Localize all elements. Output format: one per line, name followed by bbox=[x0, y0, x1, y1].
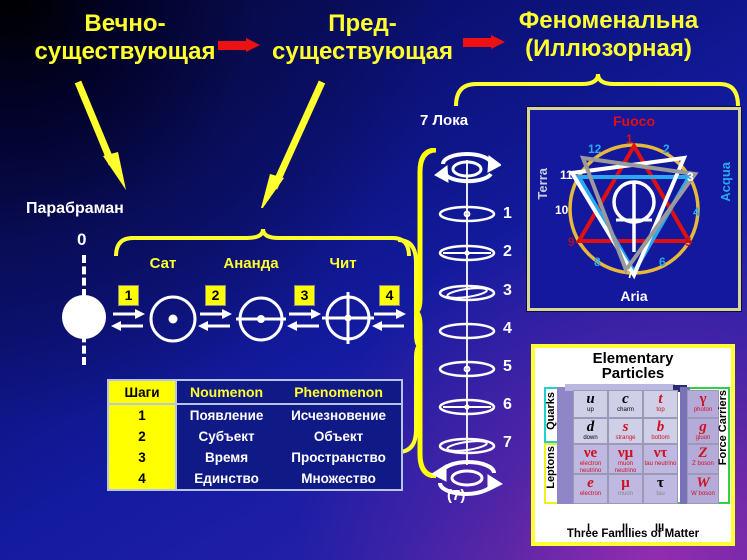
particle-name-photon: photon bbox=[688, 407, 718, 414]
group-label-force-carriers: Force Carriers bbox=[717, 390, 729, 465]
glyph-label-chit: Чит bbox=[315, 255, 371, 272]
bidirectional-arrows-4 bbox=[372, 308, 406, 332]
particle-cell-muon: μ muon bbox=[608, 474, 643, 504]
clock-label-fuoco: Fuoco bbox=[530, 113, 738, 129]
cell-phenomenon-4: Множество bbox=[276, 468, 402, 490]
step-box-2[interactable]: 2 bbox=[205, 285, 226, 306]
rotation-arrows-icon-top bbox=[433, 148, 501, 190]
step-box-4[interactable]: 4 bbox=[379, 285, 400, 306]
families-caption: Three Families of Matter bbox=[535, 528, 731, 540]
table-header-steps: Шаги bbox=[108, 380, 176, 404]
particle-cell-down: d down bbox=[573, 418, 608, 444]
particle-name-tau: tau bbox=[644, 491, 677, 498]
group-label-quarks: Quarks bbox=[545, 392, 557, 430]
cell-noumenon-2: Субъект bbox=[176, 426, 276, 447]
particle-symbol-photon: γ bbox=[688, 392, 718, 407]
particle-name-charm: charm bbox=[609, 407, 642, 414]
particle-name-muon: muon bbox=[609, 491, 642, 498]
particle-cell-bottom: b bottom bbox=[643, 418, 678, 444]
red-right-arrow-icon-2 bbox=[463, 35, 507, 49]
particle-name-electron-neutrino: electron neutrino bbox=[574, 461, 607, 474]
loka-footer-label: (7) bbox=[447, 487, 465, 504]
loka-ring-3 bbox=[437, 283, 497, 303]
particle-symbol-muon-neutrino: νμ bbox=[609, 446, 642, 461]
particle-cell-charm: c charm bbox=[608, 390, 643, 418]
bidirectional-arrows-1 bbox=[111, 308, 145, 332]
particle-symbol-gluon: g bbox=[688, 420, 718, 435]
clock-star-figure bbox=[558, 128, 710, 290]
particle-cell-w-boson: W W boson bbox=[687, 474, 719, 504]
loka-number-1: 1 bbox=[503, 205, 512, 223]
brace-under-header-3 bbox=[452, 72, 742, 108]
particle-name-electron: electron bbox=[574, 491, 607, 498]
particle-name-gluon: gluon bbox=[688, 435, 718, 442]
cell-noumenon-3: Время bbox=[176, 447, 276, 468]
cell-noumenon-1: Появление bbox=[176, 404, 276, 426]
clock-number-5: 5 bbox=[685, 235, 692, 249]
slide-canvas: Вечно-существующая Пред-существующая Фен… bbox=[0, 0, 747, 560]
red-right-arrow-icon-1 bbox=[218, 38, 262, 52]
particle-cell-up: u up bbox=[573, 390, 608, 418]
particle-symbol-electron-neutrino: νe bbox=[574, 446, 607, 461]
particle-cell-strange: s strange bbox=[608, 418, 643, 444]
table-header-noumenon: Noumenon bbox=[176, 380, 276, 404]
header-stage-3-line2: (Иллюзорная) bbox=[525, 35, 692, 62]
particle-symbol-tau-neutrino: ντ bbox=[644, 446, 677, 461]
particle-symbol-charm: c bbox=[609, 392, 642, 407]
glyph-label-sat: Сат bbox=[133, 255, 193, 272]
particle-name-muon-neutrino: muon neutrino bbox=[609, 461, 642, 474]
clock-number-11: 11 bbox=[560, 168, 573, 182]
table-row: 2 Субъект Объект bbox=[108, 426, 402, 447]
particle-symbol-electron: e bbox=[574, 476, 607, 491]
particle-symbol-tau: τ bbox=[644, 476, 677, 491]
table-row: 1 Появление Исчезновение bbox=[108, 404, 402, 426]
clock-number-1: 1 bbox=[626, 132, 633, 146]
particle-name-down: down bbox=[574, 435, 607, 442]
particle-symbol-down: d bbox=[574, 420, 607, 435]
brace-over-glyphs bbox=[113, 228, 413, 258]
particle-name-tau-neutrino: tau neutrino bbox=[644, 461, 677, 468]
loka-ring-7 bbox=[437, 436, 497, 456]
particle-symbol-bottom: b bbox=[644, 420, 677, 435]
particle-name-up: up bbox=[574, 407, 607, 414]
particle-cell-electron-neutrino: νe electron neutrino bbox=[573, 444, 608, 474]
particle-symbol-z-boson: Z bbox=[688, 446, 718, 461]
cell-step-1: 1 bbox=[108, 404, 176, 426]
table-row: 4 Единство Множество bbox=[108, 468, 402, 490]
loka-ring-6 bbox=[437, 398, 497, 416]
particle-name-strange: strange bbox=[609, 435, 642, 442]
header-stage-3: Феноменальна(Иллюзорная) bbox=[470, 7, 747, 64]
clock-number-7: 7 bbox=[627, 267, 634, 281]
elementary-particles-panel: Elementary Particles u up c charm t top … bbox=[531, 344, 735, 546]
cell-phenomenon-3: Пространство bbox=[276, 447, 402, 468]
clock-number-8: 8 bbox=[594, 255, 601, 269]
bidirectional-arrows-3 bbox=[287, 308, 321, 332]
rotation-arrows-icon-bottom bbox=[428, 455, 504, 499]
clock-label-terra: Terra bbox=[535, 168, 550, 200]
particle-symbol-w-boson: W bbox=[688, 476, 718, 491]
loka-left-brace bbox=[414, 148, 440, 478]
zodiac-clock-panel: Fuoco Aria Terra Acqua 1 2 3 4 5 6 7 8 9… bbox=[527, 107, 741, 311]
particle-cell-top: t top bbox=[643, 390, 678, 418]
header-stage-2-line2: существующая bbox=[272, 38, 453, 65]
loka-number-3: 3 bbox=[503, 282, 512, 300]
yellow-pointer-arrow-2 bbox=[240, 78, 340, 208]
circle-with-diameter-symbol bbox=[234, 294, 288, 344]
parabraman-disc-symbol bbox=[62, 295, 106, 339]
loka-title: 7 Лока bbox=[420, 112, 468, 129]
yellow-pointer-arrow-1 bbox=[70, 78, 150, 198]
loka-number-5: 5 bbox=[503, 358, 512, 376]
cell-noumenon-4: Единство bbox=[176, 468, 276, 490]
particle-name-w-boson: W boson bbox=[688, 491, 718, 498]
cell-step-2: 2 bbox=[108, 426, 176, 447]
particle-cell-z-boson: Z Z boson bbox=[687, 444, 719, 474]
circle-with-cross-symbol bbox=[320, 290, 376, 348]
loka-ring-1 bbox=[437, 205, 497, 223]
bidirectional-arrows-2 bbox=[198, 308, 232, 332]
clock-label-aria: Aria bbox=[530, 288, 738, 304]
loka-ring-4 bbox=[437, 322, 497, 340]
particle-symbol-top: t bbox=[644, 392, 677, 407]
header-stage-1-line1: Вечно- bbox=[84, 10, 165, 37]
clock-number-12: 12 bbox=[588, 142, 601, 156]
particles-title-line2: Particles bbox=[535, 366, 731, 381]
noumenon-phenomenon-table: Шаги Noumenon Phenomenon 1 Появление Исч… bbox=[107, 379, 403, 491]
clock-number-4: 4 bbox=[693, 205, 700, 219]
glyph-label-ananda: Ананда bbox=[209, 255, 293, 272]
clock-number-3: 3 bbox=[687, 170, 694, 184]
header-stage-1-line2: существующая bbox=[35, 38, 216, 65]
particle-name-bottom: bottom bbox=[644, 435, 677, 442]
cell-step-3: 3 bbox=[108, 447, 176, 468]
parabraman-label: Парабраман bbox=[26, 200, 124, 218]
particle-cell-muon-neutrino: νμ muon neutrino bbox=[608, 444, 643, 474]
clock-number-2: 2 bbox=[663, 142, 670, 156]
particles-title-line1: Elementary bbox=[535, 351, 731, 366]
particle-cell-photon: γ photon bbox=[687, 390, 719, 418]
particle-name-top: top bbox=[644, 407, 677, 414]
loka-number-4: 4 bbox=[503, 320, 512, 338]
circle-with-dot-symbol bbox=[148, 294, 198, 344]
cell-phenomenon-1: Исчезновение bbox=[276, 404, 402, 426]
particle-cell-gluon: g gluon bbox=[687, 418, 719, 444]
cell-step-4: 4 bbox=[108, 468, 176, 490]
particle-cell-tau-neutrino: ντ tau neutrino bbox=[643, 444, 678, 474]
particle-symbol-muon: μ bbox=[609, 476, 642, 491]
step-box-3[interactable]: 3 bbox=[294, 285, 315, 306]
cell-phenomenon-2: Объект bbox=[276, 426, 402, 447]
loka-number-7: 7 bbox=[503, 434, 512, 452]
particle-cell-tau: τ tau bbox=[643, 474, 678, 504]
table-row: 3 Время Пространство bbox=[108, 447, 402, 468]
loka-ring-2 bbox=[437, 244, 497, 262]
table-header-row: Шаги Noumenon Phenomenon bbox=[108, 380, 402, 404]
header-stage-2: Пред-существующая bbox=[255, 10, 470, 67]
clock-number-10: 10 bbox=[555, 203, 568, 217]
loka-ring-5 bbox=[437, 360, 497, 378]
clock-label-acqua: Acqua bbox=[718, 162, 733, 202]
group-label-leptons: Leptons bbox=[545, 446, 557, 489]
step-box-1[interactable]: 1 bbox=[118, 285, 139, 306]
particle-cell-electron: e electron bbox=[573, 474, 608, 504]
particle-symbol-strange: s bbox=[609, 420, 642, 435]
header-stage-2-line1: Пред- bbox=[328, 10, 396, 37]
table-header-phenomenon: Phenomenon bbox=[276, 380, 402, 404]
depth-slab-left bbox=[557, 387, 573, 504]
particle-name-z-boson: Z boson bbox=[688, 461, 718, 468]
loka-number-6: 6 bbox=[503, 396, 512, 414]
loka-number-2: 2 bbox=[503, 243, 512, 261]
header-stage-1: Вечно-существующая bbox=[0, 10, 250, 67]
header-stage-3-line1: Феноменальна bbox=[519, 7, 698, 34]
clock-number-9: 9 bbox=[568, 235, 575, 249]
zero-label: 0 bbox=[77, 230, 86, 250]
clock-number-6: 6 bbox=[659, 255, 666, 269]
particle-symbol-up: u bbox=[574, 392, 607, 407]
